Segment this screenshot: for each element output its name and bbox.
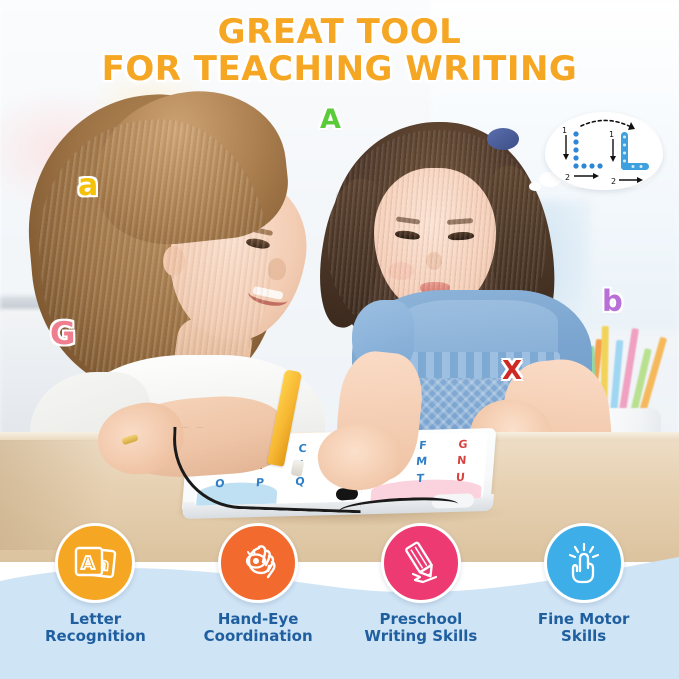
product-banner: A B C D E F G H I J K L M N O P Q R S T (0, 0, 679, 679)
tapping-finger-icon (562, 540, 606, 586)
speech-bubble-tail-dot (529, 182, 541, 191)
feature-label: Preschool Writing Skills (346, 611, 496, 646)
headline-line-1: GREAT TOOL (0, 14, 679, 51)
feature-fine-motor-skills[interactable]: Fine Motor Skills (509, 523, 659, 646)
feature-label: Letter Recognition (20, 611, 170, 646)
feature-hand-eye-coordination[interactable]: Hand-Eye Coordination (183, 523, 333, 646)
flashcards-aa-icon: a A (71, 542, 119, 584)
headline-line-2: FOR TEACHING WRITING (0, 51, 679, 88)
feature-preschool-writing-skills[interactable]: Preschool Writing Skills (346, 523, 496, 646)
letter-tracing-demo: 1 2 1 2 (545, 112, 665, 192)
feature-icon-circle[interactable] (218, 523, 298, 603)
floating-letter-a: a (78, 168, 98, 203)
board-letter: T (400, 470, 441, 488)
board-letter: U (440, 469, 481, 487)
board-letter: N (441, 452, 482, 470)
svg-text:2: 2 (611, 177, 616, 186)
feature-letter-recognition[interactable]: a A Letter Recognition (20, 523, 170, 646)
feature-icon-circle[interactable] (544, 523, 624, 603)
floating-letter-A: A (320, 104, 341, 135)
svg-text:1: 1 (562, 126, 567, 135)
feature-icon-circle[interactable] (381, 523, 461, 603)
feature-icon-circle[interactable]: a A (55, 523, 135, 603)
page-title: GREAT TOOL FOR TEACHING WRITING (0, 14, 679, 87)
svg-text:1: 1 (609, 130, 614, 139)
floating-letter-G: G (50, 316, 75, 352)
feature-list: a A Letter Recognition (0, 523, 679, 673)
girl-hair-tie (487, 128, 519, 150)
svg-text:A: A (81, 553, 95, 574)
pencil-writing-icon (398, 541, 444, 585)
floating-letter-X: X (502, 356, 522, 386)
board-letter: G (442, 435, 483, 453)
svg-text:2: 2 (565, 173, 570, 182)
floating-letter-b: b (602, 284, 623, 318)
feature-label: Hand-Eye Coordination (183, 611, 333, 646)
ok-hand-eye-icon (235, 541, 281, 585)
feature-label: Fine Motor Skills (509, 611, 659, 646)
